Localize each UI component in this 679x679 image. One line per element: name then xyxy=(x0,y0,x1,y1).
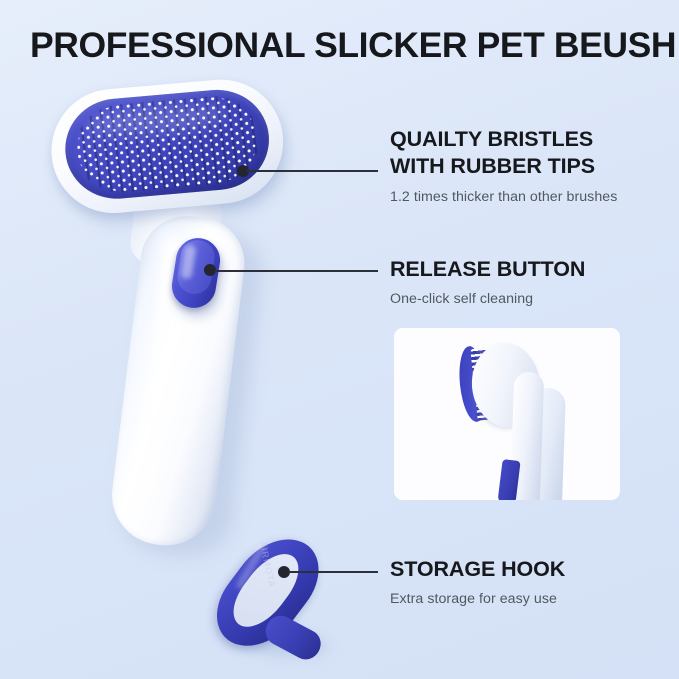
infographic-canvas: PROFESSIONAL SLICKER PET BEUSH xyxy=(0,0,679,679)
leader-line-release xyxy=(214,270,378,272)
callout-hook: STORAGE HOOK Extra storage for easy use xyxy=(390,556,678,609)
storage-hook: AIRMOTA xyxy=(215,527,364,674)
leader-line-hook xyxy=(288,571,378,573)
callout-release-subtext: One-click self cleaning xyxy=(390,290,678,308)
product-illustration: AIRMOTA xyxy=(0,0,400,679)
brush-head xyxy=(46,74,295,234)
inset-photo-card xyxy=(394,328,620,500)
callout-release: RELEASE BUTTON One-click self cleaning xyxy=(390,256,678,309)
inset-scene xyxy=(394,328,620,500)
callout-hook-heading: STORAGE HOOK xyxy=(390,556,678,583)
callout-bristles: QUAILTY BRISTLES WITH RUBBER TIPS 1.2 ti… xyxy=(390,126,678,206)
leader-line-bristles xyxy=(246,170,378,172)
callout-bristles-heading: QUAILTY BRISTLES WITH RUBBER TIPS xyxy=(390,126,678,181)
callout-release-heading: RELEASE BUTTON xyxy=(390,256,678,283)
callout-bristles-subtext: 1.2 times thicker than other brushes xyxy=(390,188,678,206)
callout-hook-subtext: Extra storage for easy use xyxy=(390,590,678,608)
